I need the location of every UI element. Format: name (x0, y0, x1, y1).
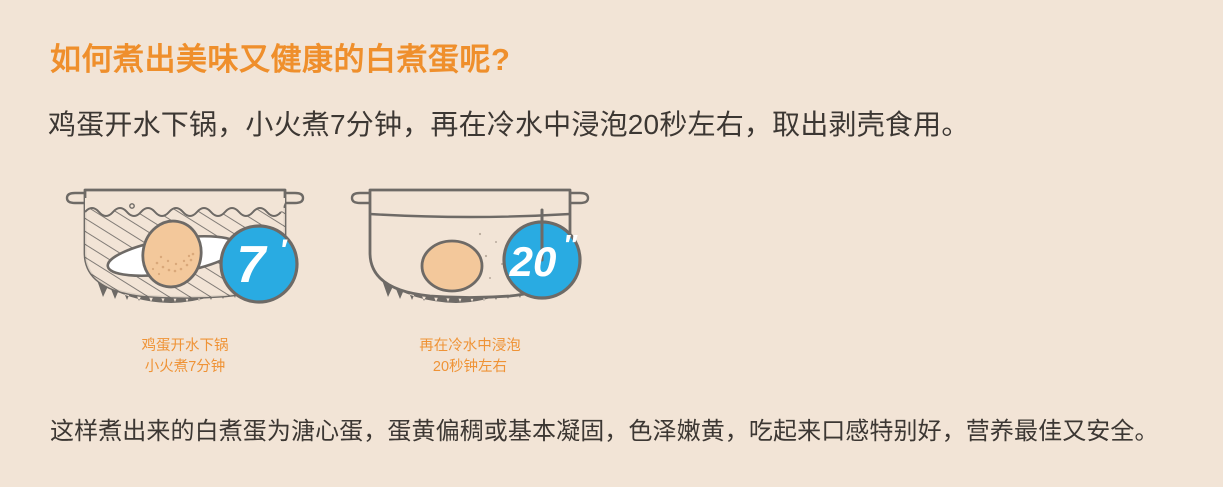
page-title: 如何煮出美味又健康的白煮蛋呢? (50, 42, 510, 78)
caption-line-1: 鸡蛋开水下锅 (45, 336, 325, 357)
egg-icon (422, 241, 482, 291)
badge-unit-second: ″ (563, 229, 578, 260)
badge-value-7: 7 (237, 236, 268, 294)
pot-handle-left (67, 193, 85, 203)
closing-paragraph: 这样煮出来的白煮蛋为溏心蛋，蛋黄偏稠或基本凝固，色泽嫩黄，吃起来口感特别好，营养… (50, 418, 1159, 447)
step-soak-caption: 再在冷水中浸泡 20秒钟左右 (330, 336, 610, 378)
badge-value-20: 20 (509, 238, 557, 285)
pot-handle-right (285, 193, 303, 203)
caption-line-2: 20秒钟左右 (330, 357, 610, 378)
step-soak: 20 ″ 再在冷水中浸泡 20秒钟左右 (330, 168, 610, 388)
infographic-page: 如何煮出美味又健康的白煮蛋呢? 鸡蛋开水下锅，小火煮7分钟，再在冷水中浸泡20秒… (0, 0, 1223, 487)
step-boil-caption: 鸡蛋开水下锅 小火煮7分钟 (45, 336, 325, 378)
pot-boiling-illustration: 7 ′ (45, 168, 325, 318)
lead-instruction-text: 鸡蛋开水下锅，小火煮7分钟，再在冷水中浸泡20秒左右，取出剥壳食用。 (48, 108, 970, 142)
pot-handle-right (570, 193, 588, 203)
caption-line-1: 再在冷水中浸泡 (330, 336, 610, 357)
caption-line-2: 小火煮7分钟 (45, 357, 325, 378)
steps-row: 7 ′ 鸡蛋开水下锅 小火煮7分钟 (0, 168, 1223, 388)
badge-timer-7: 7 ′ (221, 226, 297, 302)
step-boil: 7 ′ 鸡蛋开水下锅 小火煮7分钟 (45, 168, 325, 388)
pot-cold-water-illustration: 20 ″ (330, 168, 610, 318)
pot-handle-left (352, 193, 370, 203)
